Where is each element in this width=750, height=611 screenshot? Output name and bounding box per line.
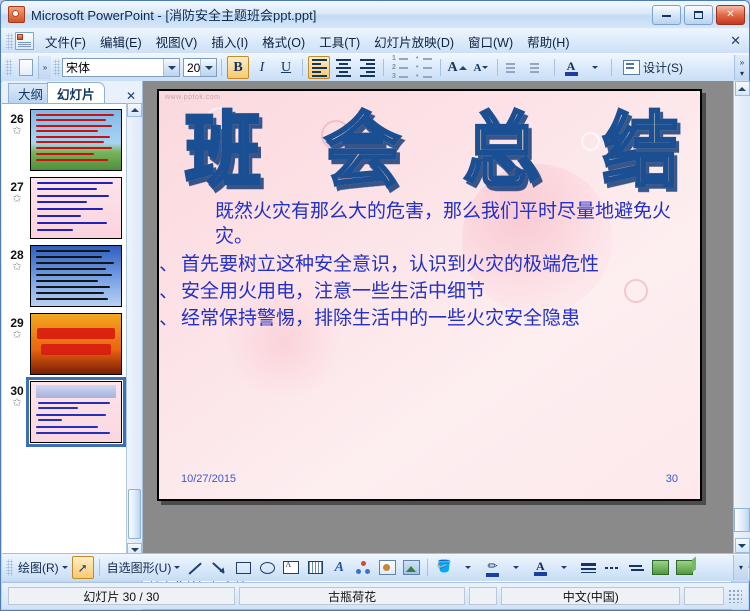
arrow-tool-button[interactable]: [208, 556, 230, 579]
scrollbar-thumb[interactable]: [734, 508, 750, 532]
insert-clipart-button[interactable]: [376, 556, 398, 579]
wordart-icon: A: [335, 560, 344, 576]
rectangle-tool-button[interactable]: [232, 556, 254, 579]
close-pane-button[interactable]: ✕: [126, 89, 136, 103]
thumbnail-image[interactable]: [30, 313, 122, 375]
line-icon: [188, 561, 202, 575]
scrollbar-track[interactable]: [734, 96, 750, 538]
scroll-up-button[interactable]: [735, 81, 750, 96]
menu-item-help[interactable]: 帮助(H): [520, 29, 576, 54]
work-area: 大纲 幻灯片 ✕ 26 ✩: [2, 81, 750, 581]
font-color-icon: A: [534, 560, 547, 576]
dash-style-icon: [605, 563, 620, 573]
title-char-4: 结: [603, 111, 679, 192]
line-tool-button[interactable]: [184, 556, 206, 579]
animation-star-icon: ✩: [4, 397, 30, 409]
status-extra: [684, 587, 724, 605]
drawbar-grip[interactable]: [6, 559, 13, 576]
new-slide-icon[interactable]: [15, 56, 37, 79]
slide-body-text[interactable]: 既然火灾有那么大的危害，那么我们平时尽量地避免火灾。 1、首先要树立这种安全意识…: [181, 199, 684, 333]
close-button[interactable]: ✕: [716, 5, 745, 25]
line-color-icon: ✏: [486, 559, 499, 577]
menu-grip[interactable]: [6, 33, 13, 50]
vertical-text-icon: [308, 561, 323, 574]
menu-bar: 文件(F) 编辑(E) 视图(V) 插入(I) 格式(O) 工具(T) 幻灯片放…: [1, 28, 749, 53]
rectangle-icon: [236, 562, 251, 574]
animation-star-icon: ✩: [4, 125, 30, 137]
insert-picture-button[interactable]: [400, 556, 422, 579]
clip-art-icon: [379, 560, 396, 575]
menu-item-insert[interactable]: 插入(I): [204, 29, 255, 54]
align-left-button[interactable]: [308, 56, 330, 79]
select-objects-button[interactable]: ➚: [72, 556, 94, 579]
align-right-icon: [360, 59, 375, 77]
minimize-button[interactable]: [652, 5, 681, 25]
font-size-value: 20: [187, 61, 200, 75]
line-color-dropdown-icon[interactable]: [505, 556, 527, 579]
three-d-style-button[interactable]: [673, 556, 695, 579]
status-bar: 幻灯片 30 / 30 古瓶荷花 中文(中国): [2, 582, 748, 609]
thumbnail-number: 29: [4, 317, 30, 329]
animation-star-icon: ✩: [4, 329, 30, 341]
resize-grip[interactable]: [728, 589, 742, 603]
fill-color-icon: 🪣: [437, 559, 452, 577]
toolbar-options-1[interactable]: »: [38, 56, 51, 79]
close-document-button[interactable]: ✕: [730, 33, 741, 49]
body-text-2: 安全用火用电，注意一些生活中细节: [181, 280, 485, 302]
font-color-button[interactable]: A: [560, 56, 582, 79]
document-icon: [15, 32, 34, 50]
menu-item-tools[interactable]: 工具(T): [312, 29, 367, 54]
title-char-2: 会: [324, 111, 400, 192]
window-title: Microsoft PowerPoint - [消防安全主题班会ppt.ppt]: [31, 5, 652, 24]
increase-indent-icon: [530, 63, 546, 73]
picture-icon: [403, 560, 420, 575]
insert-diagram-button[interactable]: [352, 556, 374, 579]
pane-tabs: 大纲 幻灯片 ✕: [2, 81, 142, 103]
draw-menu-button[interactable]: 绘图(R): [15, 559, 71, 576]
title-char-1: 班: [185, 111, 261, 192]
decrease-indent-icon: [506, 63, 522, 73]
list-item[interactable]: 30 ✩: [2, 376, 142, 444]
animation-star-icon: ✩: [4, 193, 30, 205]
window-controls: ✕: [652, 5, 745, 25]
text-box-icon: [283, 561, 299, 574]
tab-slides[interactable]: 幻灯片: [47, 82, 105, 103]
animation-star-icon: ✩: [4, 261, 30, 273]
formatting-toolbar: » 宋体 20 B I U 123: [1, 53, 749, 82]
numbered-list-button[interactable]: 123: [389, 56, 411, 79]
toolbar-grip-2[interactable]: [53, 59, 60, 76]
list-item[interactable]: 28 ✩: [2, 240, 142, 308]
slide-thumbnail-pane: 大纲 幻灯片 ✕ 26 ✩: [2, 81, 143, 581]
thumbnail-image-selected[interactable]: [30, 381, 122, 443]
menu-item-view[interactable]: 视图(V): [149, 29, 205, 54]
thumbnail-image[interactable]: [30, 109, 122, 171]
decrease-indent-button[interactable]: [503, 56, 525, 79]
italic-button[interactable]: I: [251, 56, 273, 79]
slide-number: 30: [666, 473, 678, 485]
font-color-icon: A: [565, 60, 578, 76]
status-slide-position: 幻灯片 30 / 30: [8, 587, 235, 605]
thumbnail-image[interactable]: [30, 245, 122, 307]
autoshapes-label: 自选图形(U): [107, 559, 172, 576]
powerpoint-icon: [8, 6, 25, 23]
thumbnail-number: 30: [4, 385, 30, 397]
menu-item-slideshow[interactable]: 幻灯片放映(D): [367, 29, 461, 54]
numbered-list-icon: 123: [392, 55, 408, 80]
align-center-button[interactable]: [332, 56, 354, 79]
slide-date: 10/27/2015: [181, 473, 236, 485]
status-language: 中文(中国): [501, 587, 680, 605]
font-name-dropdown-icon[interactable]: [163, 59, 179, 76]
body-text-3: 经常保持警惕，排除生活中的一些火灾安全隐患: [181, 307, 580, 329]
scrollbar-thumb[interactable]: [128, 489, 141, 539]
thumbnail-meta: 29 ✩: [4, 313, 30, 341]
body-paragraph-1: 1、首先要树立这种安全意识，认识到火灾的极端危性: [181, 252, 684, 277]
fill-color-button[interactable]: 🪣: [433, 556, 455, 579]
font-color-button-draw[interactable]: A: [529, 556, 551, 579]
cursor-arrow-icon: ➚: [78, 561, 88, 575]
oval-icon: [260, 562, 275, 574]
status-design-template: 古瓶荷花: [239, 587, 466, 605]
toolbar-grip-1[interactable]: [5, 59, 12, 76]
body-paragraph-3: 3、经常保持警惕，排除生活中的一些火灾安全隐患: [181, 306, 684, 331]
font-size-combo[interactable]: 20: [183, 58, 217, 77]
font-name-value: 宋体: [66, 59, 90, 76]
design-button[interactable]: 设计(S): [617, 56, 689, 79]
slide-vertical-scrollbar[interactable]: ▲ ▼: [733, 81, 750, 581]
font-name-combo[interactable]: 宋体: [62, 58, 180, 77]
close-icon: ✕: [726, 9, 734, 20]
title-bar: Microsoft PowerPoint - [消防安全主题班会ppt.ppt]…: [1, 1, 749, 28]
title-char-3: 总: [464, 111, 540, 192]
slide-canvas[interactable]: www.pptok.com 班 会 总 结 既然火灾有那么大的危害，那么我们平时…: [157, 89, 702, 501]
arrow-icon: [212, 561, 226, 575]
design-label: 设计(S): [643, 59, 683, 76]
diagram-icon: [356, 561, 370, 574]
bulleted-list-button[interactable]: •••: [413, 56, 435, 79]
restore-icon: [694, 11, 703, 19]
dash-style-button[interactable]: [601, 556, 623, 579]
text-box-button[interactable]: [280, 556, 302, 579]
body-paragraph-0: 既然火灾有那么大的危害，那么我们平时尽量地避免火灾。: [181, 199, 684, 250]
underline-button[interactable]: U: [275, 56, 297, 79]
line-style-button[interactable]: [577, 556, 599, 579]
thumbnail-meta: 27 ✩: [4, 177, 30, 205]
font-color-dropdown-icon[interactable]: [584, 56, 606, 79]
grow-font-icon: A: [447, 60, 457, 76]
minimize-icon: [662, 12, 671, 17]
shadow-style-button[interactable]: [649, 556, 671, 579]
drawbar-options[interactable]: ▾: [733, 555, 748, 580]
menu-item-format[interactable]: 格式(O): [255, 29, 312, 54]
menu-item-edit[interactable]: 编辑(E): [93, 29, 149, 54]
thumbnail-list[interactable]: 26 ✩: [2, 103, 142, 558]
scroll-down-button[interactable]: [735, 538, 750, 553]
thumbnail-number: 27: [4, 181, 30, 193]
thumbnail-image[interactable]: [30, 177, 122, 239]
slide-editing-pane[interactable]: www.pptok.com 班 会 总 结 既然火灾有那么大的危害，那么我们平时…: [143, 81, 750, 581]
restore-button[interactable]: [684, 5, 713, 25]
align-right-button[interactable]: [356, 56, 378, 79]
drawing-toolbar: 绘图(R) ➚ 自选图形(U) A 🪣 ✏ A ▾: [2, 553, 748, 581]
autoshapes-menu-button[interactable]: 自选图形(U): [104, 559, 184, 576]
list-item[interactable]: 29 ✩: [2, 308, 142, 376]
line-style-icon: [581, 563, 596, 573]
scroll-up-button[interactable]: [127, 103, 142, 117]
bulleted-list-icon: •••: [416, 55, 432, 80]
status-spacer: [469, 587, 497, 605]
toolbar-options-2[interactable]: »▾: [734, 55, 749, 80]
thumbnail-number: 26: [4, 113, 30, 125]
thumbnail-meta: 26 ✩: [4, 109, 30, 137]
arrow-style-button[interactable]: [625, 556, 647, 579]
list-item[interactable]: 26 ✩: [2, 104, 142, 172]
thumbnail-meta: 30 ✩: [4, 381, 30, 409]
slide-title-wordart[interactable]: 班 会 总 结: [177, 105, 687, 197]
line-color-button[interactable]: ✏: [481, 556, 503, 579]
menu-item-window[interactable]: 窗口(W): [461, 29, 520, 54]
draw-menu-label: 绘图(R): [18, 559, 59, 576]
insert-wordart-button[interactable]: A: [328, 556, 350, 579]
powerpoint-window: Microsoft PowerPoint - [消防安全主题班会ppt.ppt]…: [0, 0, 750, 611]
decrease-font-size-button[interactable]: A: [470, 56, 492, 79]
bold-button[interactable]: B: [227, 56, 249, 79]
shrink-font-icon: A: [474, 62, 482, 74]
font-color-dropdown-icon-draw[interactable]: [553, 556, 575, 579]
thumbnail-meta: 28 ✩: [4, 245, 30, 273]
font-size-dropdown-icon[interactable]: [200, 59, 216, 76]
align-left-icon: [312, 59, 327, 77]
arrow-style-icon: [629, 562, 644, 574]
align-center-icon: [336, 59, 351, 77]
design-icon: [623, 60, 640, 75]
body-paragraph-2: 2、安全用火用电，注意一些生活中细节: [181, 279, 684, 304]
shadow-icon: [652, 560, 669, 575]
three-d-icon: [676, 560, 693, 575]
list-item[interactable]: 27 ✩: [2, 172, 142, 240]
thumbnail-scrollbar[interactable]: [126, 103, 142, 557]
body-text-1: 首先要树立这种安全意识，认识到火灾的极端危性: [181, 253, 599, 275]
thumbnail-number: 28: [4, 249, 30, 261]
fill-color-dropdown-icon[interactable]: [457, 556, 479, 579]
increase-indent-button[interactable]: [527, 56, 549, 79]
vertical-text-box-button[interactable]: [304, 556, 326, 579]
watermark-text: www.pptok.com: [165, 94, 221, 101]
increase-font-size-button[interactable]: A: [446, 56, 468, 79]
menu-item-file[interactable]: 文件(F): [38, 29, 93, 54]
oval-tool-button[interactable]: [256, 556, 278, 579]
